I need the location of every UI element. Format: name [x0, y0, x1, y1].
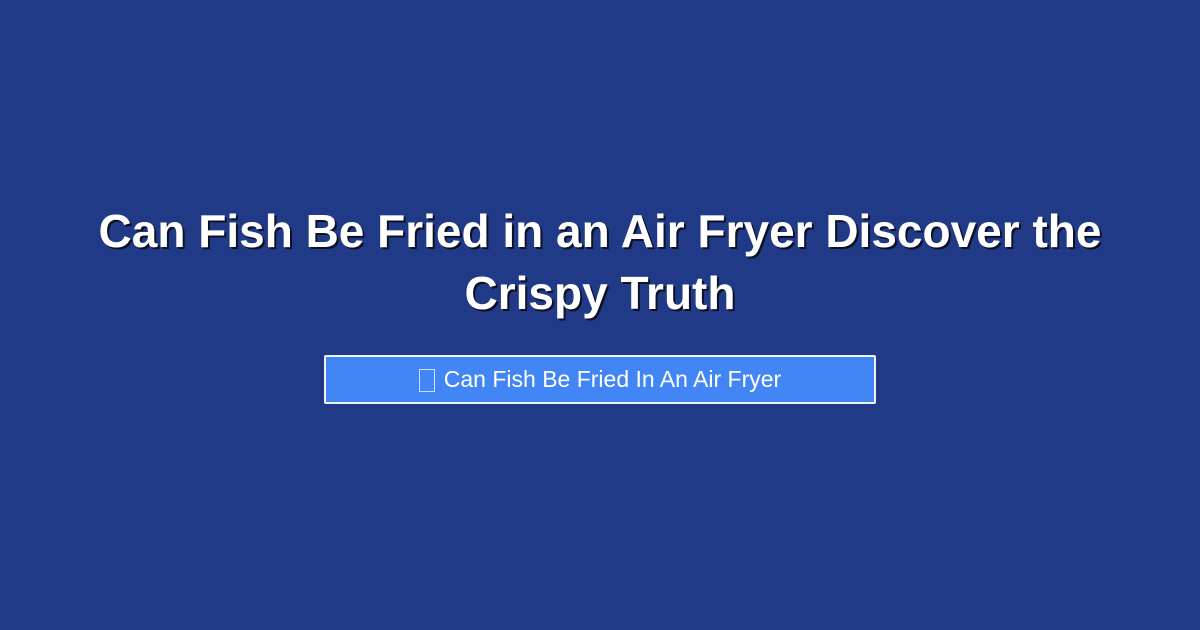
- page-title: Can Fish Be Fried in an Air Fryer Discov…: [60, 200, 1140, 324]
- topic-badge-label: Can Fish Be Fried In An Air Fryer: [444, 368, 781, 391]
- badge-row: Can Fish Be Fried In An Air Fryer: [0, 355, 1200, 404]
- fish-emoji-icon: [419, 369, 435, 392]
- og-card: Can Fish Be Fried in an Air Fryer Discov…: [0, 0, 1200, 630]
- topic-badge-button[interactable]: Can Fish Be Fried In An Air Fryer: [324, 355, 876, 404]
